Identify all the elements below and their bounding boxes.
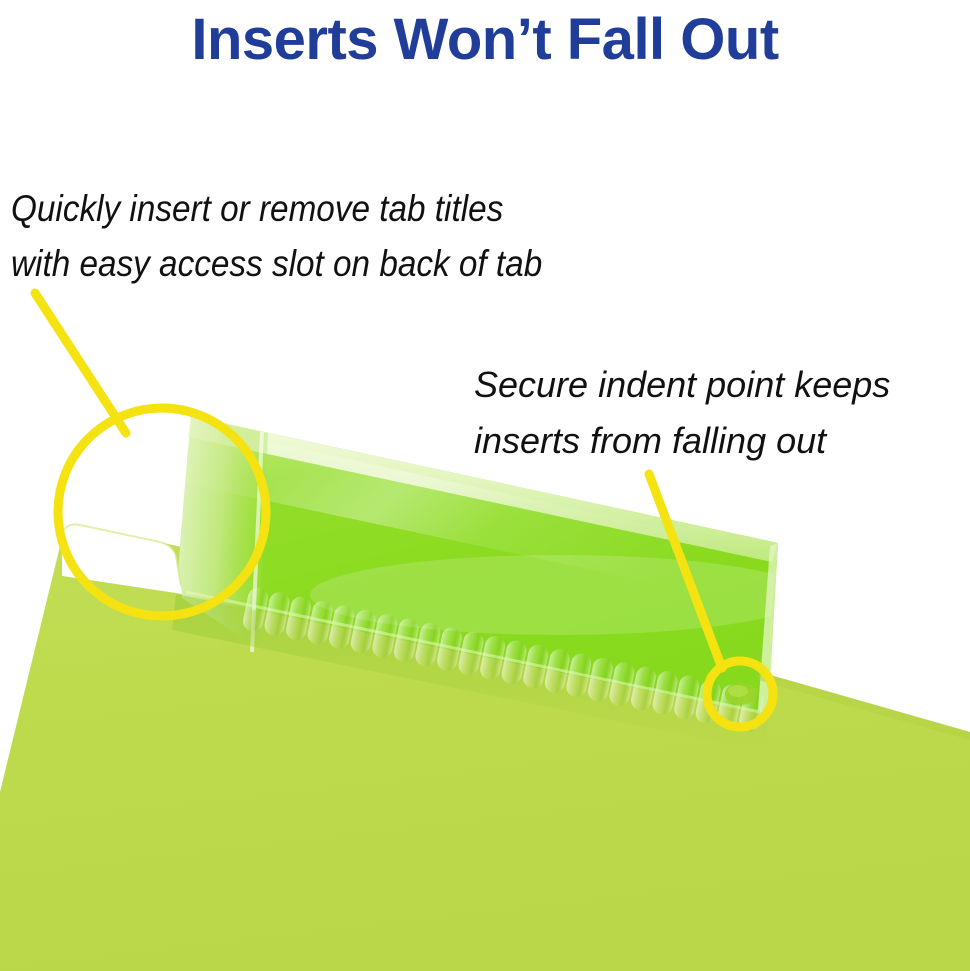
annotation-easy-access-slot-line-1: Quickly insert or remove tab titles xyxy=(11,181,542,236)
page-title: Inserts Won’t Fall Out xyxy=(0,8,970,72)
annotation-secure-indent-point-line-2: inserts from falling out xyxy=(474,413,890,469)
annotation-easy-access-slot-line-2: with easy access slot on back of tab xyxy=(11,236,542,291)
annotation-secure-indent-point-line-1: Secure indent point keeps xyxy=(474,357,890,413)
secure-indent-point-highlight xyxy=(728,685,748,697)
annotation-secure-indent-point: Secure indent point keeps inserts from f… xyxy=(474,357,890,469)
annotation-easy-access-slot: Quickly insert or remove tab titles with… xyxy=(11,181,542,291)
infographic-canvas: Inserts Won’t Fall Out xyxy=(0,0,970,971)
